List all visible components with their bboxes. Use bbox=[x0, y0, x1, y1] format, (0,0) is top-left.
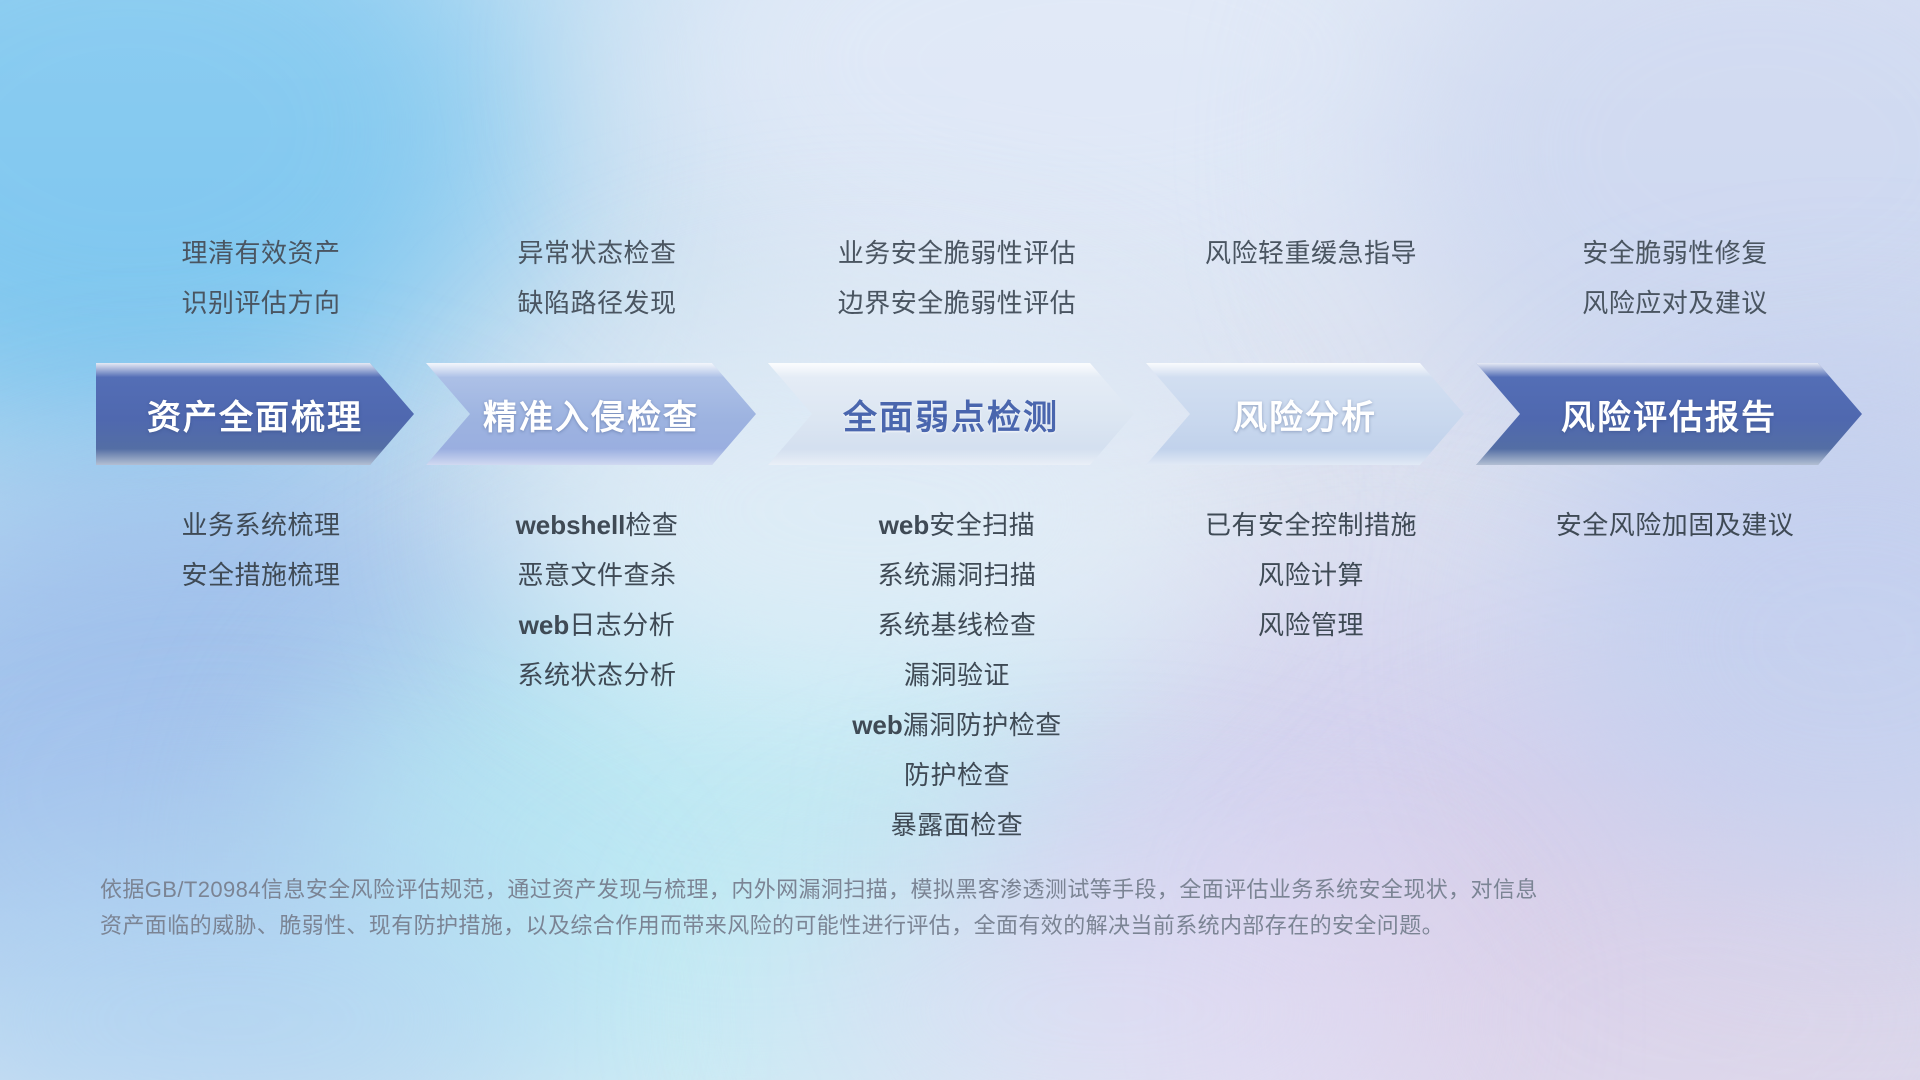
bottom-caption-item: 恶意文件查杀 bbox=[432, 550, 762, 600]
latin-token: webshell bbox=[516, 510, 626, 540]
top-caption-item: 缺陷路径发现 bbox=[432, 278, 762, 328]
bottom-caption-item: 暴露面检查 bbox=[774, 800, 1140, 850]
bottom-captions-risk-report: 安全风险加固及建议 bbox=[1476, 500, 1874, 550]
top-captions-weakness-detection: 业务安全脆弱性评估边界安全脆弱性评估 bbox=[768, 228, 1146, 328]
footer-line-1: 依据GB/T20984信息安全风险评估规范，通过资产发现与梳理，内外网漏洞扫描，… bbox=[100, 872, 1620, 908]
bottom-caption-item: 防护检查 bbox=[774, 750, 1140, 800]
latin-token: web bbox=[519, 610, 570, 640]
bottom-caption-item: 系统基线检查 bbox=[774, 600, 1140, 650]
top-caption-item: 识别评估方向 bbox=[102, 278, 420, 328]
top-caption-item: 安全脆弱性修复 bbox=[1482, 228, 1868, 278]
chevron-weakness-detection[interactable]: 全面弱点检测 bbox=[768, 363, 1134, 465]
chevron-intrusion-check[interactable]: 精准入侵检查 bbox=[426, 363, 756, 465]
latin-token: web bbox=[879, 510, 930, 540]
top-caption-item: 边界安全脆弱性评估 bbox=[774, 278, 1140, 328]
bottom-captions-asset-inventory: 业务系统梳理安全措施梳理 bbox=[96, 500, 426, 600]
bottom-captions-row: 业务系统梳理安全措施梳理webshell检查恶意文件查杀web日志分析系统状态分… bbox=[0, 500, 1920, 850]
bottom-captions-intrusion-check: webshell检查恶意文件查杀web日志分析系统状态分析 bbox=[426, 500, 768, 700]
bottom-caption-item: web漏洞防护检查 bbox=[774, 700, 1140, 750]
bottom-captions-risk-analysis: 已有安全控制措施风险计算风险管理 bbox=[1146, 500, 1476, 650]
top-caption-item: 理清有效资产 bbox=[102, 228, 420, 278]
chevron-label: 风险分析 bbox=[1233, 390, 1377, 439]
footer-description: 依据GB/T20984信息安全风险评估规范，通过资产发现与梳理，内外网漏洞扫描，… bbox=[100, 872, 1620, 944]
bottom-caption-item: 系统状态分析 bbox=[432, 650, 762, 700]
bottom-caption-item: web安全扫描 bbox=[774, 500, 1140, 550]
top-captions-risk-analysis: 风险轻重缓急指导 bbox=[1146, 228, 1476, 328]
chevron-label: 全面弱点检测 bbox=[843, 390, 1059, 439]
bottom-caption-item: 已有安全控制措施 bbox=[1152, 500, 1470, 550]
latin-token: web bbox=[852, 710, 903, 740]
chevron-label: 风险评估报告 bbox=[1561, 390, 1777, 439]
top-caption-item: 异常状态检查 bbox=[432, 228, 762, 278]
bottom-captions-weakness-detection: web安全扫描系统漏洞扫描系统基线检查漏洞验证web漏洞防护检查防护检查暴露面检… bbox=[768, 500, 1146, 850]
bottom-caption-item: web日志分析 bbox=[432, 600, 762, 650]
top-captions-asset-inventory: 理清有效资产识别评估方向 bbox=[96, 228, 426, 328]
process-chevron-band: 资产全面梳理精准入侵检查全面弱点检测风险分析风险评估报告 bbox=[0, 363, 1920, 465]
top-caption-item: 风险轻重缓急指导 bbox=[1152, 228, 1470, 278]
top-captions-intrusion-check: 异常状态检查缺陷路径发现 bbox=[426, 228, 768, 328]
chevron-label: 资产全面梳理 bbox=[147, 390, 363, 439]
top-captions-risk-report: 安全脆弱性修复风险应对及建议 bbox=[1476, 228, 1874, 328]
chevron-risk-report[interactable]: 风险评估报告 bbox=[1476, 363, 1862, 465]
chevron-asset-inventory[interactable]: 资产全面梳理 bbox=[96, 363, 414, 465]
bottom-caption-item: 安全措施梳理 bbox=[102, 550, 420, 600]
bottom-caption-item: 漏洞验证 bbox=[774, 650, 1140, 700]
bottom-caption-item: 风险计算 bbox=[1152, 550, 1470, 600]
bottom-caption-item: 风险管理 bbox=[1152, 600, 1470, 650]
infographic-canvas: 理清有效资产识别评估方向异常状态检查缺陷路径发现业务安全脆弱性评估边界安全脆弱性… bbox=[0, 0, 1920, 1080]
chevron-label: 精准入侵检查 bbox=[483, 390, 699, 439]
bottom-caption-item: 系统漏洞扫描 bbox=[774, 550, 1140, 600]
top-captions-row: 理清有效资产识别评估方向异常状态检查缺陷路径发现业务安全脆弱性评估边界安全脆弱性… bbox=[0, 228, 1920, 328]
top-caption-item: 业务安全脆弱性评估 bbox=[774, 228, 1140, 278]
chevron-risk-analysis[interactable]: 风险分析 bbox=[1146, 363, 1464, 465]
top-caption-item: 风险应对及建议 bbox=[1482, 278, 1868, 328]
bottom-caption-item: 安全风险加固及建议 bbox=[1482, 500, 1868, 550]
bottom-caption-item: webshell检查 bbox=[432, 500, 762, 550]
bottom-caption-item: 业务系统梳理 bbox=[102, 500, 420, 550]
footer-line-2: 资产面临的威胁、脆弱性、现有防护措施，以及综合作用而带来风险的可能性进行评估，全… bbox=[100, 908, 1620, 944]
